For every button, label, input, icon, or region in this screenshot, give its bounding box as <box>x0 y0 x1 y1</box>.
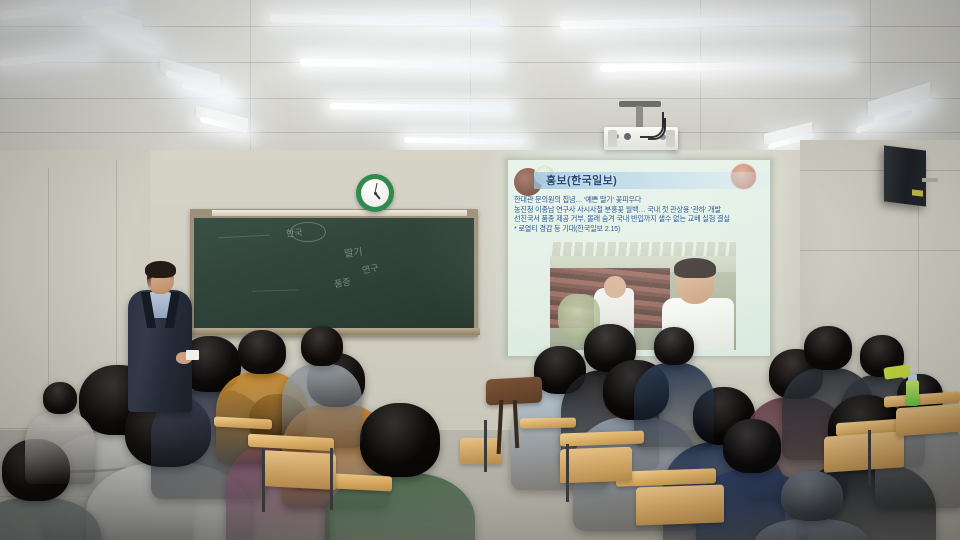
chalk-note-2: 연구 <box>361 260 380 276</box>
clock-face <box>361 179 389 207</box>
speaker-bracket <box>922 178 938 182</box>
blackboard-top-trim <box>212 210 467 216</box>
chalk-note-3: 품종 <box>333 275 352 291</box>
student-long-hair-green-head <box>360 403 440 477</box>
student-long-hair-center-r-head <box>804 326 852 370</box>
chalk-note-1: 딸기 <box>343 243 363 260</box>
slide-line-3: * 로열티 경감 등 기대(한국일보 2.15) <box>514 224 764 234</box>
speaker-label-tag <box>912 189 923 196</box>
slide-line-1: 농진청 이종남 연구사 사시사철 분홍꽃 월백… 국내 첫 관상용 '관하' 개… <box>514 205 764 215</box>
slide-photo <box>550 242 736 350</box>
chair-back-f <box>896 404 960 436</box>
desk-center-far <box>520 418 576 429</box>
student-white-top-far-left-torso <box>25 412 95 484</box>
student-blue-jacket-far-head <box>723 419 781 473</box>
water-bottle <box>906 380 919 406</box>
presenter-hair <box>145 261 176 278</box>
desk-leg-5 <box>868 430 871 486</box>
slide-line-2: 선진국서 품종 제공 거부, 몰래 숨겨 국내 반입까지 샐수 없는 교배 실험… <box>514 214 764 224</box>
wall-speaker <box>884 145 926 206</box>
classroom-photo: 한국 딸기 연구 품종 홍보(한국일보) 한대관 문의원 <box>0 0 960 540</box>
student-mustard-sweater-head <box>238 330 286 374</box>
desk-leg-2 <box>330 448 333 510</box>
blackboard: 한국 딸기 연구 품종 <box>194 218 474 328</box>
chair-back-c <box>636 484 724 525</box>
student-white-top-far-left-head <box>43 382 77 414</box>
student-dark-blue-back-head <box>654 327 694 365</box>
desk-leg-4 <box>484 420 487 472</box>
projection-screen: 홍보(한국일보) 한대관 문의원의 집념… '예쁜 딸기' 꽃피우다 농진청 이… <box>508 160 770 356</box>
desk-leg-3 <box>566 444 569 502</box>
chair-back-a <box>262 450 336 490</box>
student-grey-sweater-mid-head <box>301 326 343 366</box>
slide-line-0: 한대관 문의원의 집념… '예쁜 딸기' 꽃피우다 <box>514 195 764 205</box>
slide-title: 홍보(한국일보) <box>546 172 617 188</box>
chair-back-d <box>824 431 904 473</box>
student-checkered-cap-head <box>781 471 843 521</box>
chair-back-b <box>560 447 632 484</box>
slide-body: 한대관 문의원의 집념… '예쁜 딸기' 꽃피우다 농진청 이종남 연구사 사시… <box>514 195 764 233</box>
desk-leg-1 <box>262 448 265 512</box>
presenter-paper-note <box>186 350 199 360</box>
student-dark-blue-back-torso <box>634 363 714 447</box>
